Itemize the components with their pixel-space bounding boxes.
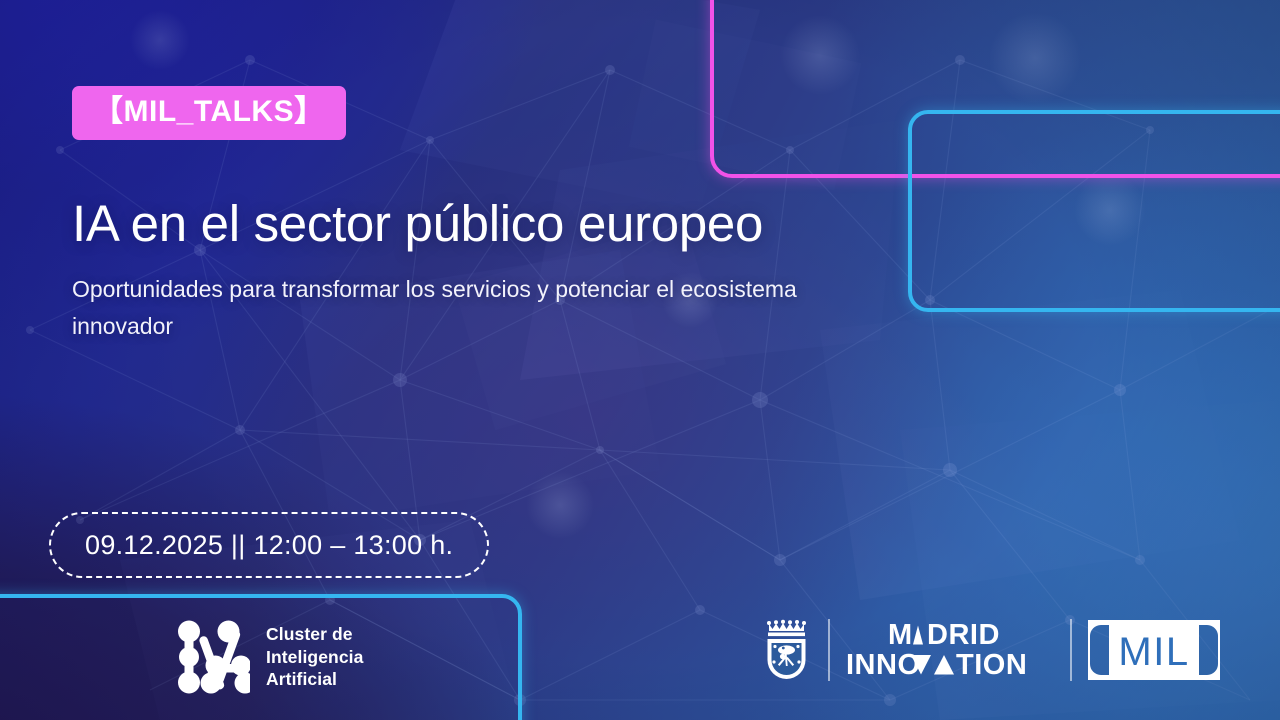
logo-divider-2	[1070, 619, 1072, 681]
cluster-ia-logo: Cluster de Inteligencia Artificial	[168, 620, 363, 694]
mil-talks-badge: 【MIL_TALKS】	[72, 86, 346, 140]
poster-content: 【MIL_TALKS】 IA en el sector público euro…	[0, 0, 1280, 720]
cluster-ia-wordmark: Cluster de Inteligencia Artificial	[266, 623, 363, 690]
ia-node-graph-mark	[168, 620, 250, 694]
page-subtitle: Oportunidades para transformar los servi…	[72, 271, 812, 346]
svg-text:M: M	[888, 619, 913, 651]
svg-text:DRID: DRID	[927, 619, 1000, 651]
partner-logos: M DRID INNO TION	[762, 618, 1220, 682]
page-title: IA en el sector público europeo	[72, 196, 763, 252]
madrid-coat-of-arms-icon	[762, 618, 812, 682]
madrid-innovation-wordmark: M DRID INNO TION	[846, 619, 1054, 681]
svg-text:INNO: INNO	[846, 649, 921, 681]
mil-logo-label: MIL	[1118, 630, 1189, 674]
event-poster: 【MIL_TALKS】 IA en el sector público euro…	[0, 0, 1280, 720]
event-datetime-pill: 09.12.2025 || 12:00 – 13:00 h.	[49, 512, 489, 578]
svg-text:TION: TION	[956, 649, 1027, 681]
logo-divider-1	[828, 619, 830, 681]
mil-logo: MIL	[1088, 620, 1220, 680]
